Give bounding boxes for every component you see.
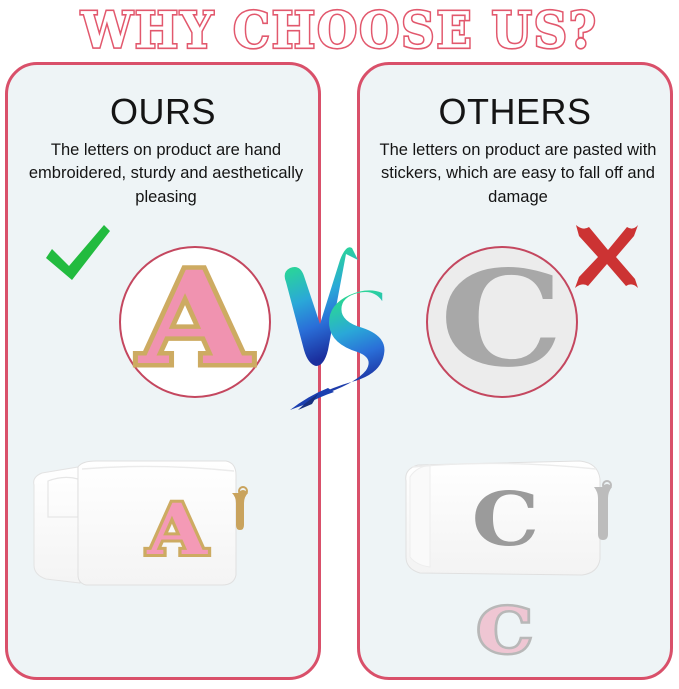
check-icon [42,222,114,294]
versus-graphic [272,238,408,430]
page-title: WHY CHOOSE US? [81,5,598,55]
patch-closeup-ours: A [119,246,271,398]
product-letter-others: C [472,483,540,557]
cross-icon [570,220,642,292]
patch-letter-others: C [440,254,564,386]
panel-heading-others: OTHERS [360,91,670,133]
page-title-banner: WHY CHOOSE US? [0,2,679,58]
patch-letter-ours: A [139,255,250,383]
patch-closeup-others: C [426,246,578,398]
product-letter-ours: A [147,495,207,565]
panel-description-others: The letters on product are pasted with s… [374,139,662,209]
panel-description-ours: The letters on product are hand embroide… [22,139,310,209]
panel-heading-ours: OURS [8,91,318,133]
fallen-patch-letter: C [477,600,532,662]
